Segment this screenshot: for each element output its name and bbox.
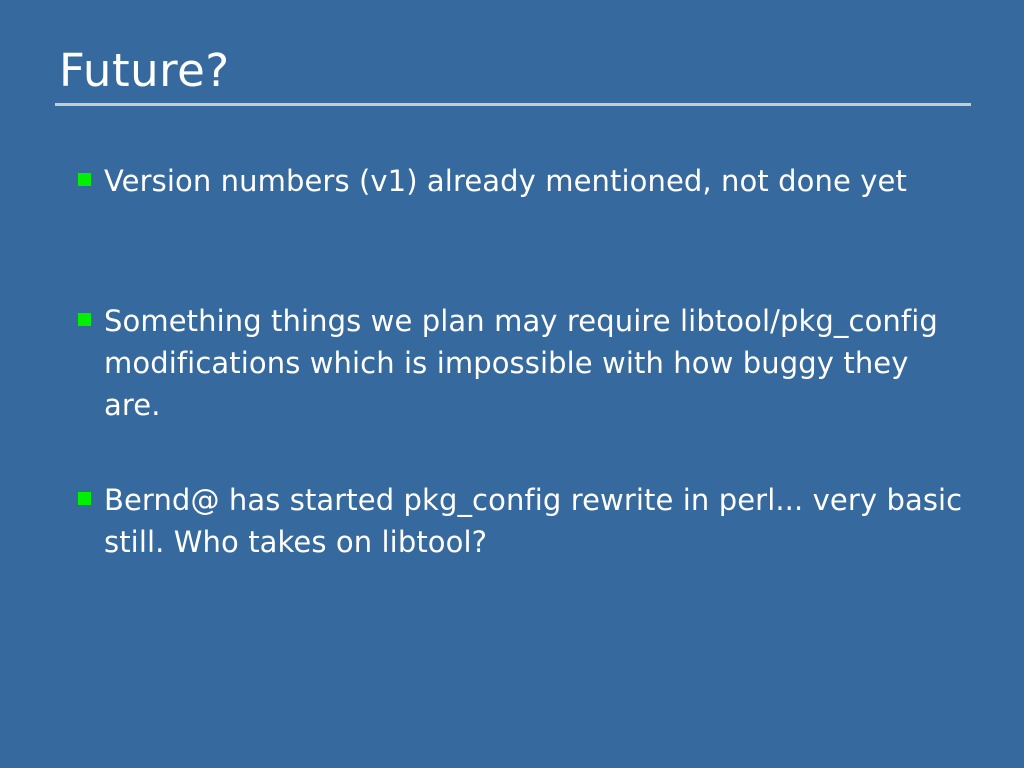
list-item: Version numbers (v1) already mentioned, … <box>78 160 968 202</box>
list-item-label: Something things we plan may require lib… <box>104 300 968 426</box>
page-title: Future? <box>55 42 971 102</box>
list-item: Bernd@ has started pkg_config rewrite in… <box>78 479 968 563</box>
bullet-list: Version numbers (v1) already mentioned, … <box>78 160 968 563</box>
list-item-label: Version numbers (v1) already mentioned, … <box>104 160 968 202</box>
square-bullet-icon <box>78 313 91 326</box>
square-bullet-icon <box>78 492 91 505</box>
slide-title-block: Future? <box>55 42 971 106</box>
square-bullet-icon <box>78 173 91 186</box>
list-item-label: Bernd@ has started pkg_config rewrite in… <box>104 479 968 563</box>
presentation-slide: Future? Version numbers (v1) already men… <box>0 0 1024 768</box>
title-underline-rule <box>55 103 971 106</box>
list-item: Something things we plan may require lib… <box>78 300 968 426</box>
